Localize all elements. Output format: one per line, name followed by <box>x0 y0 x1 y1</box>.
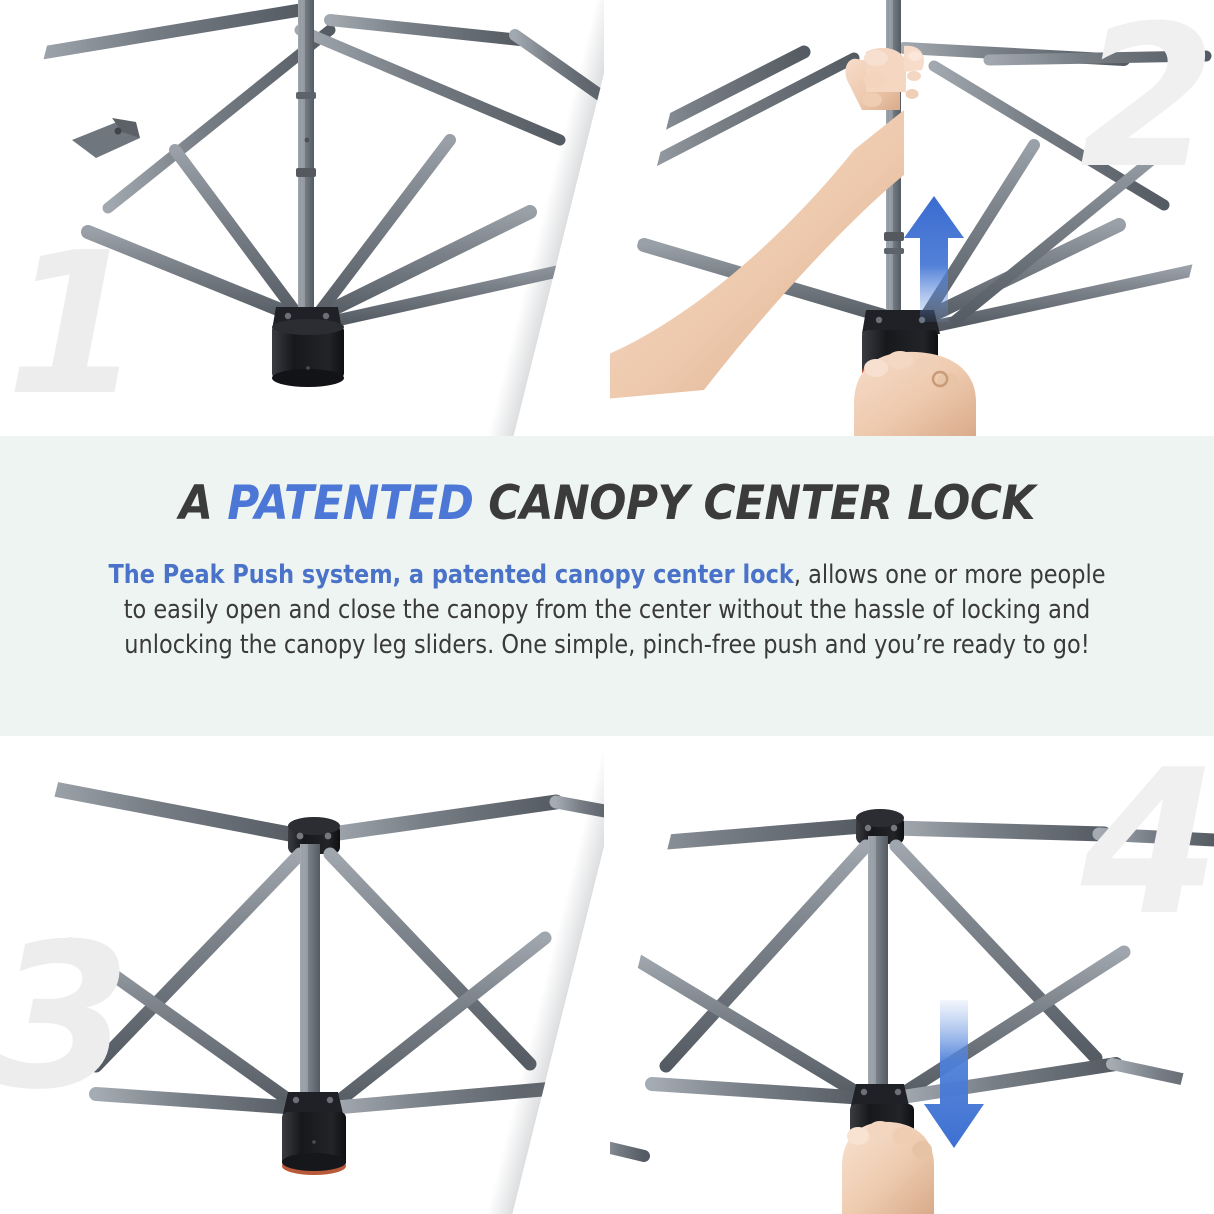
band-title-part1: A <box>179 476 227 531</box>
band-title-accent: PATENTED <box>227 476 473 531</box>
step-number-watermark-1: 1 <box>6 241 142 410</box>
photo-row-bottom: 3 <box>0 736 1214 1214</box>
step-number-watermark-3: 3 <box>0 932 131 1104</box>
panel-step-1: 1 <box>0 0 610 436</box>
panel-step-4: 4 <box>604 736 1214 1214</box>
panel-step-2: 2 <box>604 0 1214 436</box>
band-body: The Peak Push system, a patented canopy … <box>108 558 1106 663</box>
feature-text-band: A PATENTED CANOPY CENTER LOCK The Peak P… <box>0 436 1214 736</box>
band-title: A PATENTED CANOPY CENTER LOCK <box>42 478 1171 530</box>
panel-step-3: 3 <box>0 736 610 1214</box>
band-body-lead: The Peak Push system, a patented canopy … <box>108 560 793 590</box>
photo-row-top: 1 <box>0 0 1214 436</box>
band-title-part2: CANOPY CENTER LOCK <box>473 476 1034 531</box>
hand-grip-lower <box>854 351 976 436</box>
step-number-watermark-2: 2 <box>1080 14 1214 183</box>
promo-infographic: 1 <box>0 0 1214 1214</box>
step-number-watermark-4: 4 <box>1081 758 1214 930</box>
hand-pull-down <box>842 1121 934 1214</box>
